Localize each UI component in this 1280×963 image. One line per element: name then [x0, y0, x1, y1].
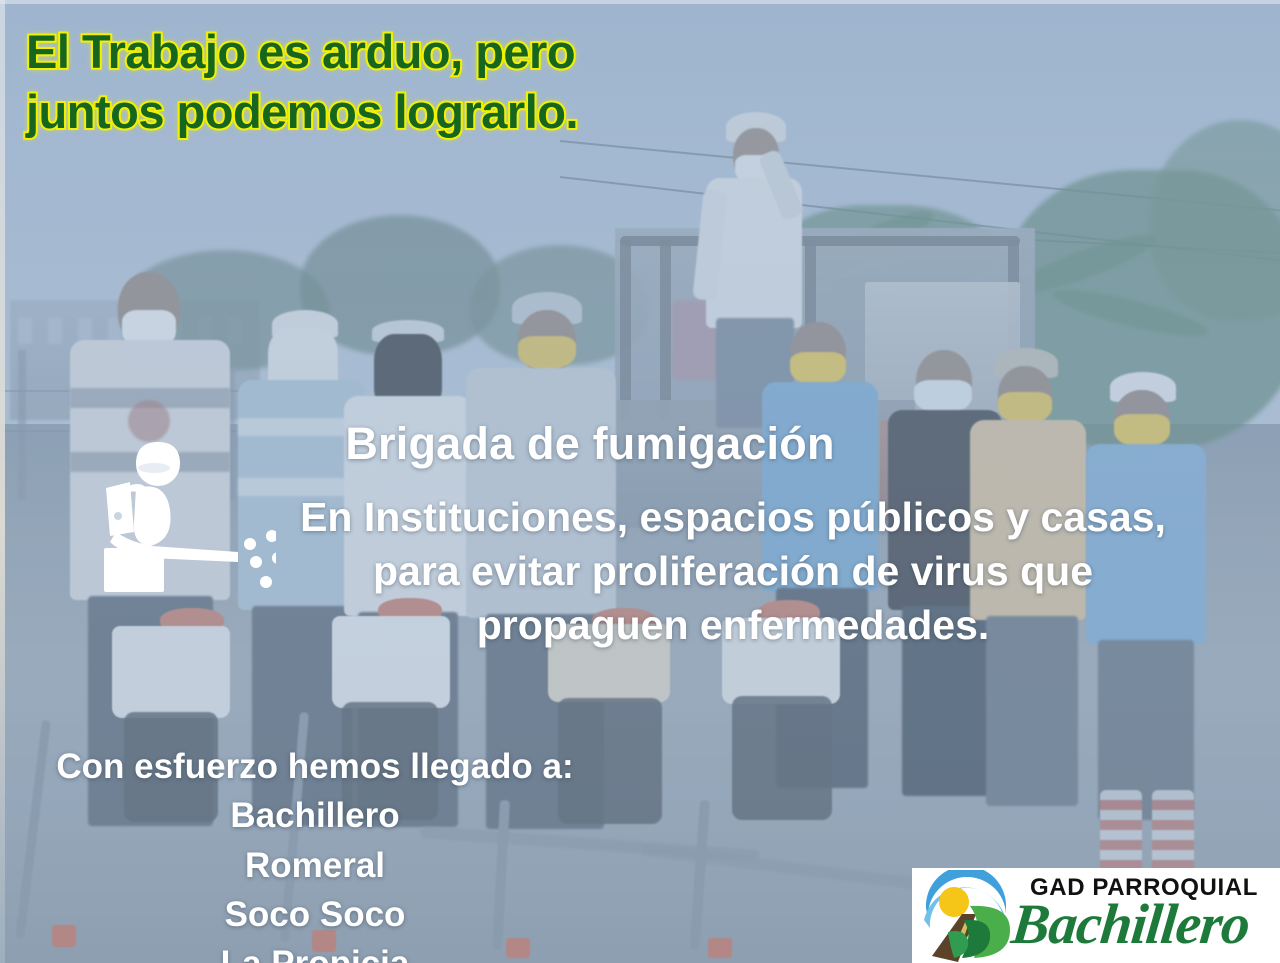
left-edge-border — [0, 0, 5, 963]
page-title: Brigada de fumigación — [0, 418, 1180, 470]
logo-wordmark: Bachillero — [1009, 892, 1253, 957]
coverage-place: Romeral — [10, 841, 620, 890]
bachillero-emblem-icon — [918, 870, 1022, 962]
top-edge-border — [0, 0, 1280, 4]
coverage-list: Con esfuerzo hemos llegado a: Bachillero… — [10, 742, 620, 963]
coverage-place: Soco Soco — [10, 890, 620, 939]
coverage-place: Bachillero — [10, 791, 620, 840]
coverage-lead: Con esfuerzo hemos llegado a: — [10, 742, 620, 791]
organization-logo: GAD PARROQUIAL Bachillero — [912, 868, 1280, 963]
headline-slogan: El Trabajo es arduo, pero juntos podemos… — [26, 22, 706, 142]
coverage-place: La Propicia — [10, 939, 620, 963]
fumigation-campaign-poster: El Trabajo es arduo, pero juntos podemos… — [0, 0, 1280, 963]
description-text: En Instituciones, espacios públicos y ca… — [228, 490, 1238, 652]
